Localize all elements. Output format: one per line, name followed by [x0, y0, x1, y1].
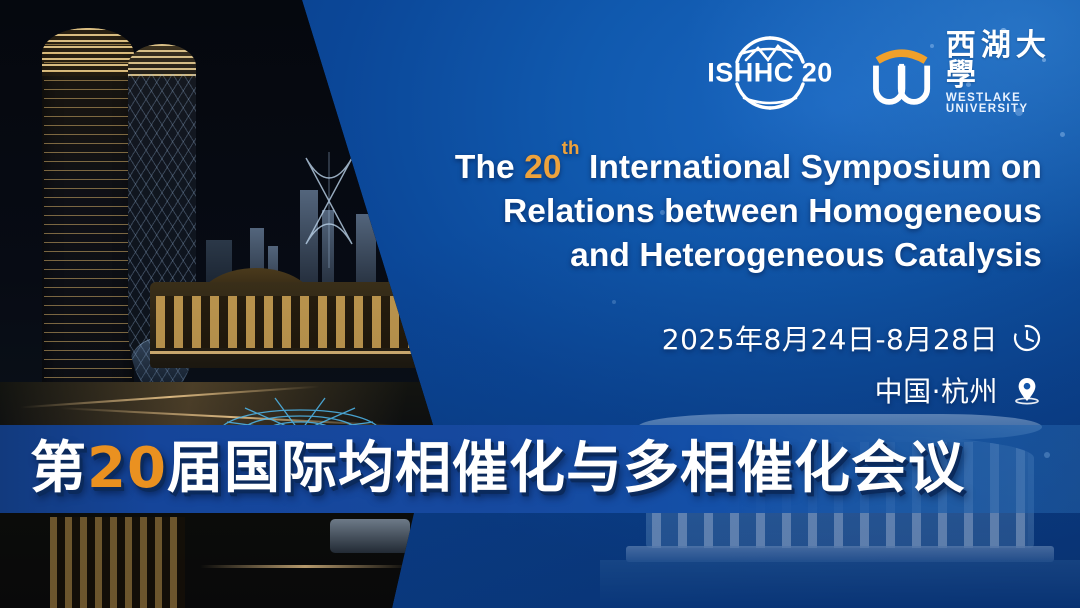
hall-lawn: [600, 560, 1080, 608]
mall-ledge-light: [150, 351, 450, 354]
chinese-title: 第20届国际均相催化与多相催化会议: [30, 441, 965, 497]
event-location-row: 中国·杭州: [662, 370, 1042, 410]
conference-title: The 20th International Symposium on Rela…: [300, 146, 1042, 279]
event-date-row: 2025年8月24日-8月28日: [662, 318, 1042, 358]
strip-light-trail: [200, 565, 410, 568]
tower-floor-lights: [44, 44, 132, 418]
band-suffix: 届国际均相催化与多相催化会议: [167, 436, 965, 501]
title-edition-number: 20th: [524, 149, 579, 186]
westlake-name-en: WESTLAKE UNIVERSITY: [946, 93, 1080, 116]
westlake-monogram-icon: [871, 38, 932, 108]
logo-row: ISHHC 20 西湖大學 WESTLAKE UNIVERSITY: [700, 28, 1080, 118]
ishhc-logo-text: ISHHC 20: [700, 58, 840, 89]
logo-divider: [843, 45, 845, 101]
bokeh-dot: [1060, 132, 1065, 137]
title-ordinal-suffix: th: [562, 137, 580, 158]
clock-icon: [1012, 323, 1042, 353]
band-prefix: 第: [30, 436, 87, 501]
strip-vehicle: [330, 519, 410, 553]
conference-banner: ISHHC 20 西湖大學 WESTLAKE UNIVERSITY The 20…: [0, 0, 1080, 608]
title-line3: and Heterogeneous Catalysis: [570, 237, 1042, 274]
bokeh-dot: [612, 300, 616, 304]
ishhc-logo[interactable]: ISHHC 20: [700, 30, 817, 116]
title-line2: Relations between Homogeneous: [503, 193, 1042, 230]
event-location: 中国·杭州: [875, 370, 998, 410]
strip-lit-facade: [50, 517, 185, 608]
map-pin-icon: [1012, 375, 1042, 405]
westlake-logo[interactable]: 西湖大學 WESTLAKE UNIVERSITY: [871, 31, 1080, 116]
chinese-title-band: 第20届国际均相催化与多相催化会议: [0, 425, 1080, 513]
title-line1-after: International Symposium on: [580, 149, 1042, 186]
westlake-wordmark: 西湖大學 WESTLAKE UNIVERSITY: [946, 31, 1080, 116]
band-edition-number: 20: [87, 436, 167, 501]
event-meta: 2025年8月24日-8月28日 中国·杭州: [662, 318, 1042, 422]
event-date: 2025年8月24日-8月28日: [662, 318, 998, 358]
westlake-name-cn: 西湖大學: [946, 31, 1080, 91]
skyscraper-tower-one: [42, 28, 134, 418]
title-line1-before: The: [455, 149, 524, 186]
